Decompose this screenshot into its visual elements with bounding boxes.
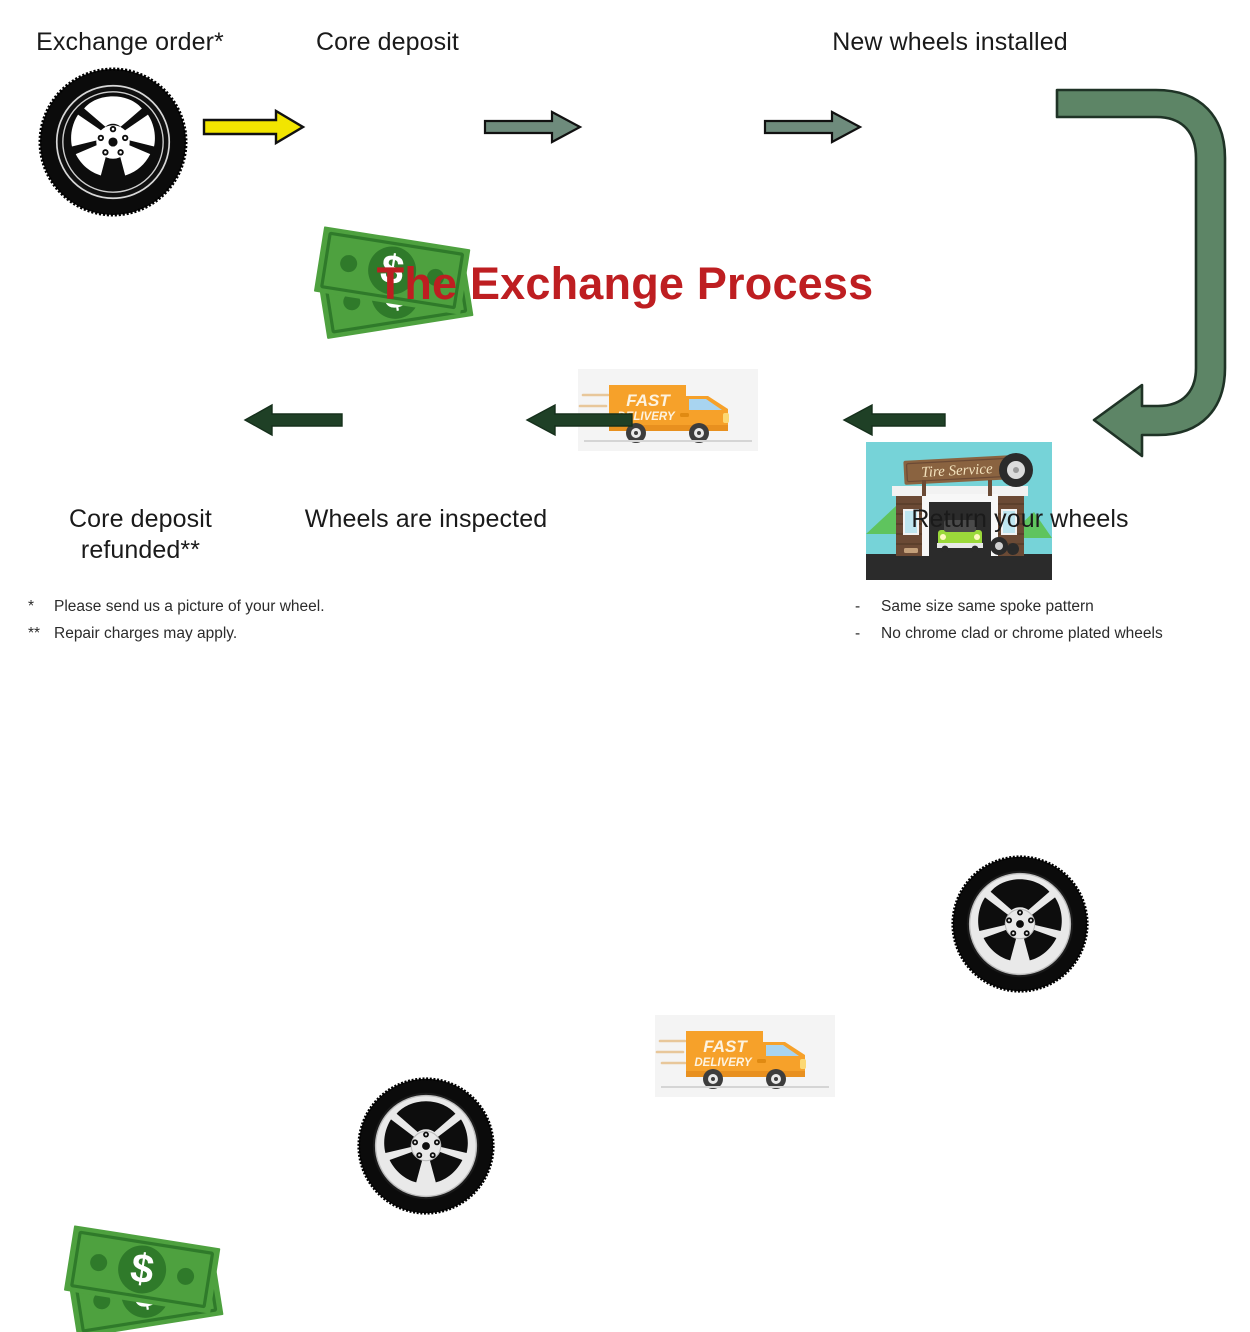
- footnote-text: Same size same spoke pattern: [881, 594, 1094, 621]
- arrow-shipping-back-to-inspection: [524, 403, 634, 437]
- footnote-mark: -: [855, 594, 881, 621]
- step-label-new-wheels-installed: New wheels installed: [790, 27, 1110, 58]
- step-label-core-deposit: Core deposit: [270, 27, 505, 58]
- wheel-icon: [37, 66, 189, 218]
- footnote-right-row: - Same size same spoke pattern: [855, 594, 1250, 621]
- footnote-text: No chrome clad or chrome plated wheels: [881, 621, 1163, 648]
- money-icon-refund: $ $: [55, 1219, 230, 1332]
- arrow-order-to-deposit: [202, 108, 306, 146]
- exchange-process-diagram: Exchange order*: [0, 0, 1250, 666]
- arrow-deposit-to-shipping: [484, 108, 582, 146]
- footnote-mark: -: [855, 621, 881, 648]
- footnote-text: Repair charges may apply.: [54, 621, 237, 648]
- footnotes-left: * Please send us a picture of your wheel…: [28, 594, 488, 647]
- wheel-icon-return: [950, 854, 1090, 994]
- step-label-exchange-order: Exchange order*: [0, 27, 260, 58]
- footnote-text: Please send us a picture of your wheel.: [54, 594, 325, 621]
- delivery-truck-icon-return: FAST DELIVERY: [655, 1015, 835, 1097]
- step-label-core-deposit-refunded: Core deposit refunded**: [18, 504, 263, 565]
- arrow-shipping-to-shop: [764, 108, 862, 146]
- footnote-left-row: * Please send us a picture of your wheel…: [28, 594, 488, 621]
- footnote-right-row: - No chrome clad or chrome plated wheels: [855, 621, 1250, 648]
- wheel-icon-inspected: [356, 1076, 496, 1216]
- truck-text-line2: DELIVERY: [694, 1057, 753, 1069]
- arrow-inspection-to-refund: [242, 403, 344, 437]
- footnote-left-row: ** Repair charges may apply.: [28, 621, 488, 648]
- step-label-return-your-wheels: Return your wheels: [860, 504, 1180, 535]
- footnote-mark: *: [28, 594, 54, 621]
- arrow-return-to-shipping-back: [841, 403, 947, 437]
- footnotes-right: - Same size same spoke pattern - No chro…: [855, 594, 1250, 647]
- truck-text-line1: FAST: [703, 1037, 748, 1056]
- page-title: The Exchange Process: [0, 258, 1250, 310]
- footnote-mark: **: [28, 621, 54, 648]
- step-label-wheels-inspected: Wheels are inspected: [276, 504, 576, 535]
